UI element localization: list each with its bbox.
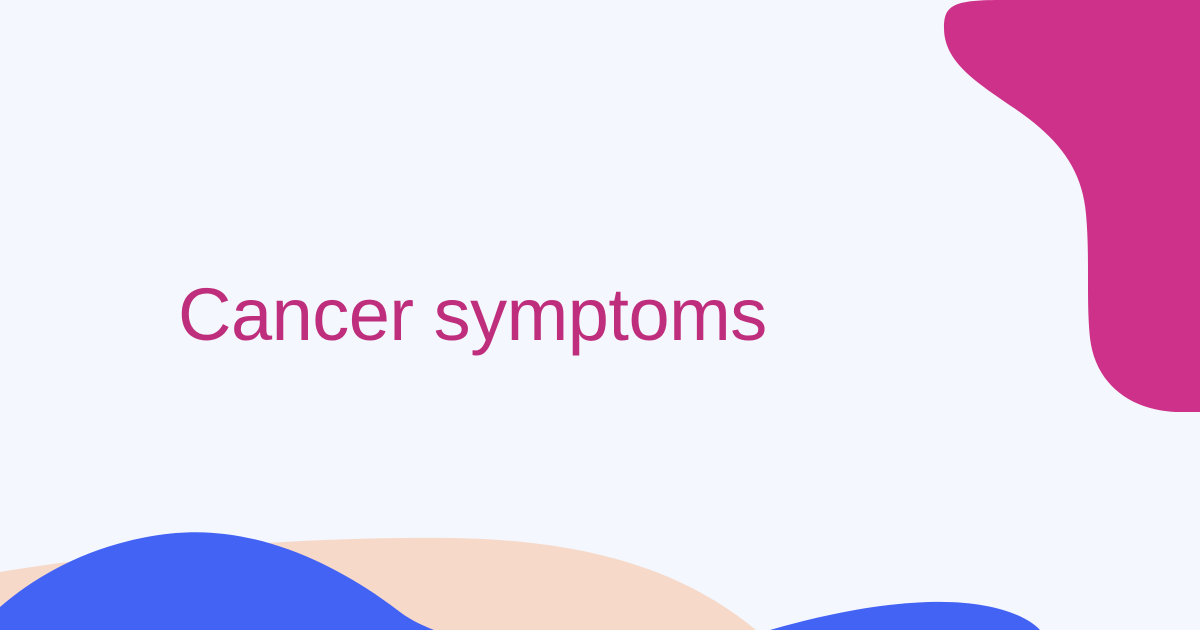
title-block: Cancer symptoms: [0, 0, 1200, 630]
page-title: Cancer symptoms: [178, 275, 767, 355]
social-card: Cancer symptoms: [0, 0, 1200, 630]
